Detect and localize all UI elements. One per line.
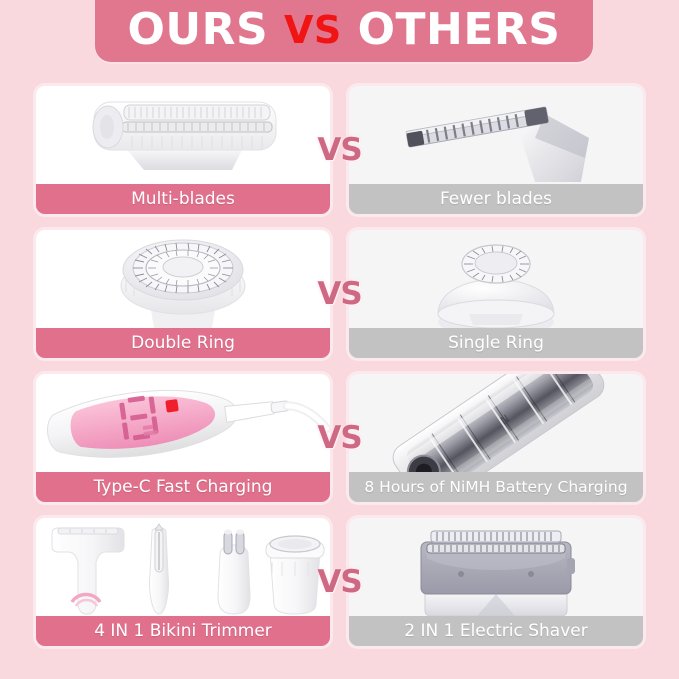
pink-handle-with-usb-c-cable-icon	[36, 374, 330, 472]
others-card-fewer-blades[interactable]: Fewer blades	[349, 86, 643, 214]
comparison-row: Double Ring VS	[0, 230, 679, 374]
comparison-row: Type-C Fast Charging VS	[0, 374, 679, 518]
nimh-battery-cells-icon: N	[349, 374, 643, 472]
product-image-multi-blades	[36, 86, 330, 184]
vs-separator: VS	[317, 132, 361, 168]
product-image-type-c-charging	[36, 374, 330, 472]
four-attachment-heads-icon	[36, 518, 330, 616]
ours-card-double-ring[interactable]: Double Ring	[36, 230, 330, 358]
title-ours: OURS	[127, 4, 268, 55]
ours-card-type-c-fast-charging[interactable]: Type-C Fast Charging	[36, 374, 330, 502]
page-title: OURS VS OTHERS	[127, 8, 560, 52]
product-image-single-ring	[349, 230, 643, 328]
comparison-row: Multi-blades VS	[0, 86, 679, 230]
product-image-2-in-1-shaver	[349, 518, 643, 616]
product-image-fewer-blades	[349, 86, 643, 184]
others-label: Single Ring	[349, 328, 643, 358]
header-banner: OURS VS OTHERS	[95, 0, 593, 62]
ours-card-multi-blades[interactable]: Multi-blades	[36, 86, 330, 214]
comparison-grid: Multi-blades VS	[0, 86, 679, 662]
vs-separator: VS	[317, 564, 361, 600]
vs-separator: VS	[317, 276, 361, 312]
others-card-2-in-1-electric-shaver[interactable]: 2 IN 1 Electric Shaver	[349, 518, 643, 646]
narrow-trimmer-blade-icon	[349, 86, 643, 184]
others-card-nimh-battery[interactable]: N 8 Hours of NiMH Battery Charging	[349, 374, 643, 502]
gray-foil-shaver-icon	[349, 518, 643, 616]
single-ring-dome-shaver-icon	[349, 230, 643, 328]
ours-label: 4 IN 1 Bikini Trimmer	[36, 616, 330, 646]
double-ring-shaver-head-icon	[36, 230, 330, 328]
vs-separator: VS	[317, 420, 361, 456]
others-label: 8 Hours of NiMH Battery Charging	[349, 472, 643, 502]
product-image-4-in-1-trimmer	[36, 518, 330, 616]
title-others: OTHERS	[358, 4, 561, 55]
ours-label: Type-C Fast Charging	[36, 472, 330, 502]
title-vs: VS	[284, 8, 342, 52]
ours-label: Multi-blades	[36, 184, 330, 214]
product-image-double-ring	[36, 230, 330, 328]
comparison-row: 4 IN 1 Bikini Trimmer VS	[0, 518, 679, 662]
others-label: 2 IN 1 Electric Shaver	[349, 616, 643, 646]
ours-card-4-in-1-bikini-trimmer[interactable]: 4 IN 1 Bikini Trimmer	[36, 518, 330, 646]
others-label: Fewer blades	[349, 184, 643, 214]
ours-label: Double Ring	[36, 328, 330, 358]
product-image-nimh-battery: N	[349, 374, 643, 472]
foil-shaver-head-wide-icon	[36, 86, 330, 184]
others-card-single-ring[interactable]: Single Ring	[349, 230, 643, 358]
